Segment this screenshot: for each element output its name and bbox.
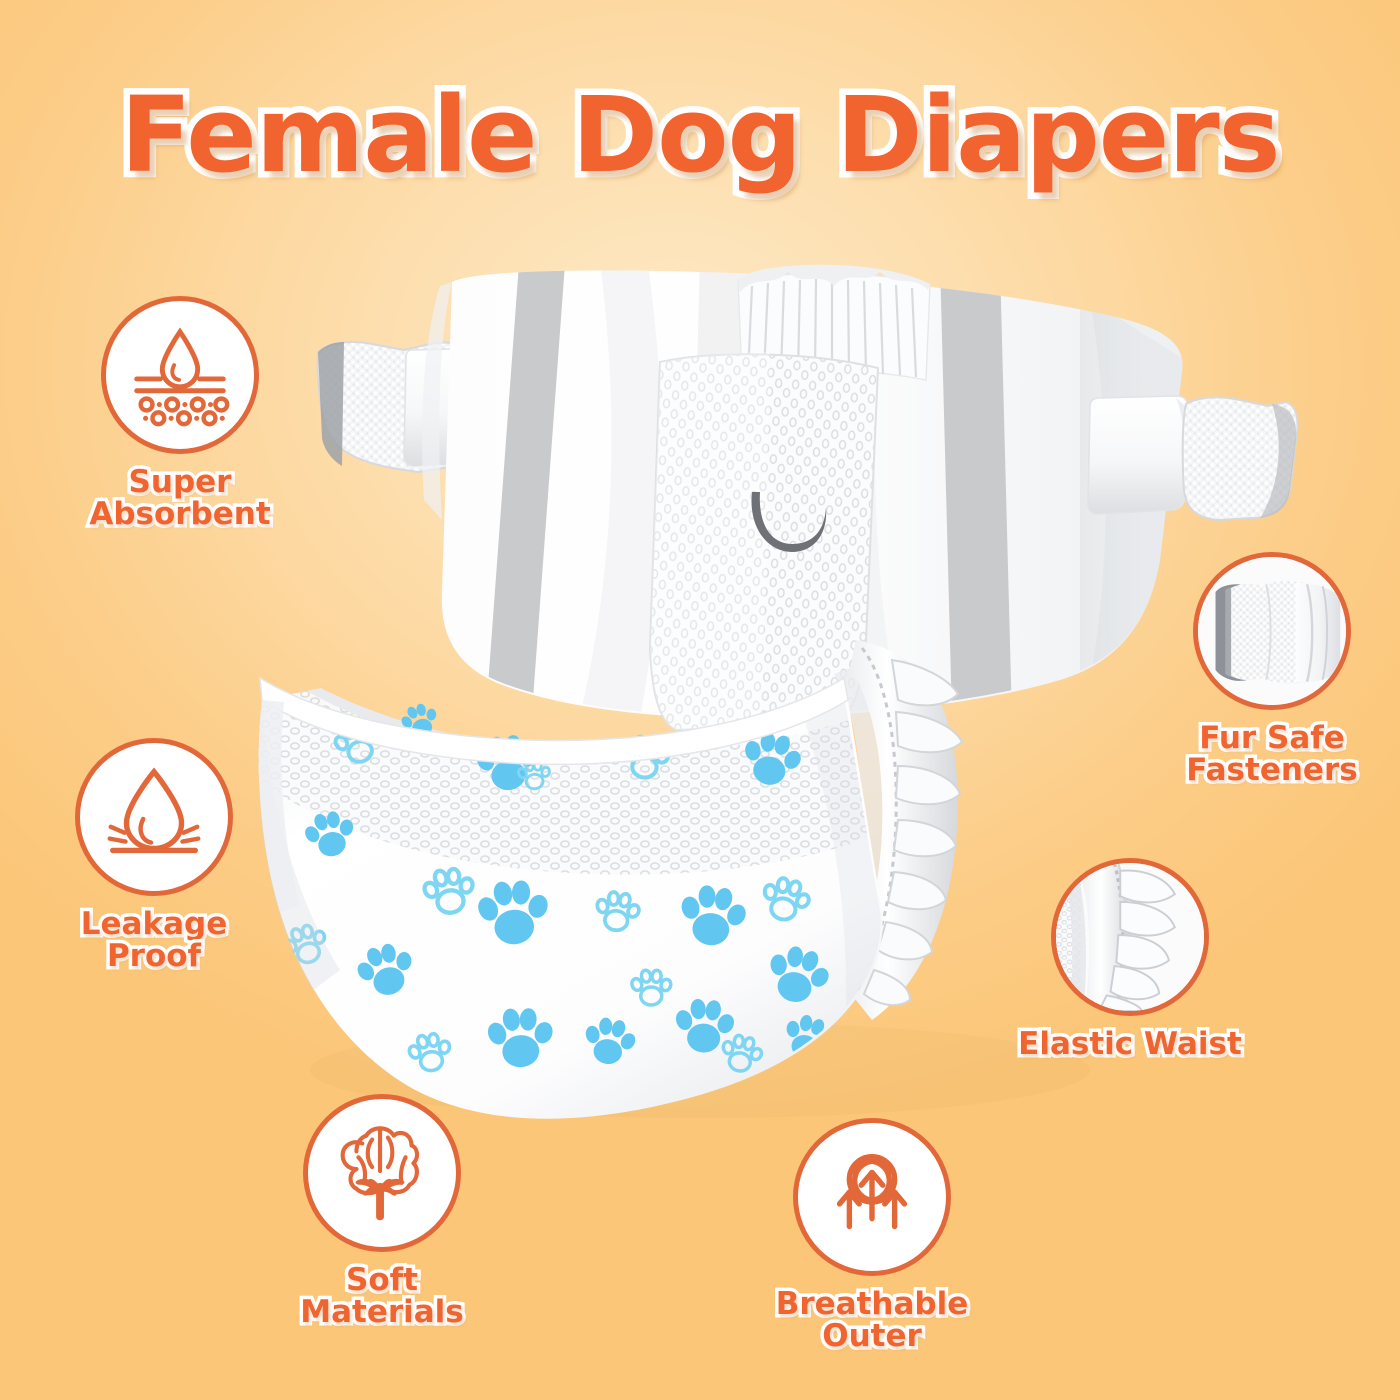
water-droplet-repel-surface-icon <box>95 758 213 876</box>
infographic-poster: Female Dog Diapers <box>0 0 1400 1400</box>
feature-icon-circle <box>793 1118 951 1276</box>
feature-label: Fur Safe Fasteners <box>1142 723 1400 786</box>
feature-breathable-outer[interactable]: Breathable Outer <box>742 1118 1002 1352</box>
water-droplet-absorption-layers-icon <box>121 316 239 434</box>
fastener-tab-closeup-photo <box>1198 555 1346 707</box>
feature-icon-circle <box>75 738 233 896</box>
page-title: Female Dog Diapers <box>0 74 1400 196</box>
feature-super-absorbent[interactable]: Super Absorbent <box>50 296 310 530</box>
feature-soft-materials[interactable]: Soft Materials <box>252 1094 512 1328</box>
feature-icon-circle <box>101 296 259 454</box>
feature-icon-circle <box>1193 552 1351 710</box>
feature-icon-circle <box>1051 858 1209 1016</box>
breathable-clouds-arrows-icon <box>813 1138 931 1256</box>
elastic-ruffle-closeup-photo <box>1056 861 1204 1013</box>
title-text: Female Dog Diapers <box>120 74 1279 196</box>
right-fastener-tab <box>1088 396 1298 520</box>
feature-label: Leakage Proof <box>24 909 284 972</box>
feature-label: Elastic Waist <box>1000 1029 1260 1061</box>
feature-leakage-proof[interactable]: Leakage Proof <box>24 738 284 972</box>
feature-fur-safe-fasteners[interactable]: Fur Safe Fasteners <box>1142 552 1400 786</box>
feature-label: Super Absorbent <box>50 467 310 530</box>
cotton-boll-icon <box>323 1114 441 1232</box>
feature-elastic-waist[interactable]: Elastic Waist <box>1000 858 1260 1061</box>
feature-label: Breathable Outer <box>742 1289 1002 1352</box>
feature-label: Soft Materials <box>252 1265 512 1328</box>
feature-icon-circle <box>303 1094 461 1252</box>
